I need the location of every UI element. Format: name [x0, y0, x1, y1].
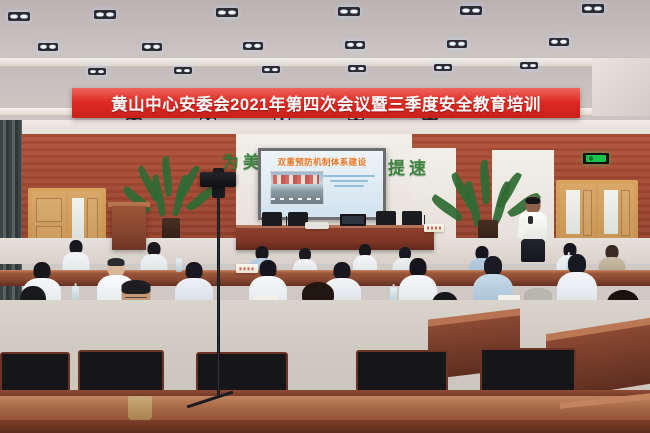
ceiling-downlight [345, 41, 365, 49]
head-table-chair [376, 211, 396, 225]
slide-photo [270, 171, 324, 205]
laptop [340, 214, 366, 226]
ceiling-downlight [460, 6, 482, 15]
tripod-head [212, 186, 225, 198]
ceiling-downlight [434, 64, 452, 71]
ceiling-downlight [88, 68, 106, 75]
name-card [424, 224, 444, 232]
foreground-desk-front [0, 420, 650, 433]
ceiling-downlight [520, 62, 538, 69]
ceiling-rail-1 [0, 58, 650, 66]
ceiling-downlight [38, 43, 58, 51]
tea-cup [128, 396, 152, 420]
microphone-stand [286, 216, 287, 226]
wall-calligraphy-right: 提速 [388, 154, 430, 179]
projection-screen-frame: 双重预防机制体系建设 [258, 148, 386, 220]
chair-front[interactable] [480, 348, 576, 396]
tripod-pole [217, 185, 220, 395]
door-glass-panel [72, 198, 84, 238]
speaker-hair [526, 197, 541, 204]
ceiling-corner-step [592, 58, 650, 116]
ceiling-downlight [174, 67, 192, 74]
exit-sign-icon [583, 153, 609, 164]
conference-room-photo: 为美 提速 黄山中心安委会2021年第四次会议暨三季度安全教育培训 双重预防机制… [0, 0, 650, 433]
wall-upper-trim [0, 120, 650, 134]
microphone-icon [528, 216, 533, 224]
video-camera [200, 172, 236, 187]
potted-plant-right [455, 160, 521, 248]
hair [122, 280, 151, 294]
slide-title: 双重预防机制体系建设 [261, 156, 383, 168]
projector [305, 222, 329, 229]
head-table-chair [402, 211, 422, 225]
ceiling-downlight [243, 42, 263, 50]
ceiling-downlight [94, 10, 116, 19]
ceiling-downlight [262, 66, 280, 73]
speaker-presenter [516, 196, 550, 262]
ceiling-downlight [582, 4, 604, 13]
head-table-chair [262, 212, 282, 226]
ceiling-downlight [338, 7, 360, 16]
ceiling-downlight [348, 65, 366, 72]
ceiling-downlight [549, 38, 569, 46]
ceiling-downlight [447, 40, 467, 48]
projection-screen: 双重预防机制体系建设 [261, 151, 383, 217]
speaker-trousers [521, 239, 545, 262]
ceiling-downlight [216, 8, 238, 17]
door-glass-panel [566, 190, 580, 234]
ceiling-downlight [142, 43, 162, 51]
potted-plant-left [142, 152, 200, 244]
event-banner: 黄山中心安委会2021年第四次会议暨三季度安全教育培训 [72, 88, 580, 118]
banner-text: 黄山中心安委会2021年第四次会议暨三季度安全教育培训 [111, 91, 541, 115]
ceiling-downlight [8, 12, 30, 21]
door-glass-panel [604, 190, 618, 234]
slide-text-lines [323, 175, 375, 190]
